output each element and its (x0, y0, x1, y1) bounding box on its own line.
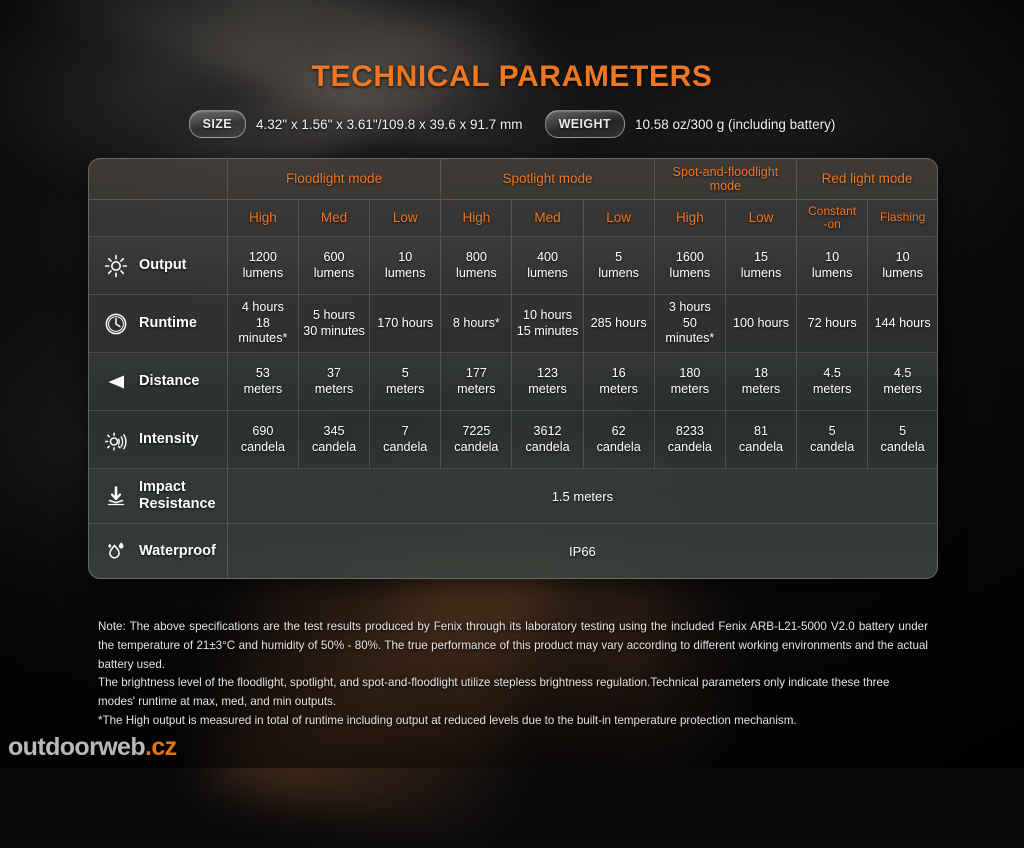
cell-output-1-l1: 600 (324, 250, 345, 264)
mode-header-floodlight: Floodlight mode (227, 159, 440, 200)
cell-distance-9: 4.5meters (868, 353, 937, 411)
cell-output-6-l2: lumens (657, 266, 723, 281)
cell-runtime-3: 8 hours* (441, 295, 512, 353)
cell-intensity-5: 62candela (583, 411, 654, 469)
level-header-spot-med: Med (512, 200, 583, 237)
cell-intensity-5-l2: candela (586, 440, 652, 455)
cell-output-8-l2: lumens (799, 266, 865, 281)
cell-intensity-0: 690candela (227, 411, 298, 469)
level-header-flood-high: High (227, 200, 298, 237)
spec-table-panel: Floodlight mode Spotlight mode Spot-and-… (88, 158, 938, 579)
cell-distance-6-l1: 180 (679, 366, 700, 380)
cell-runtime-7-l1: 100 hours (733, 316, 789, 330)
cell-runtime-4: 10 hours15 minutes (512, 295, 583, 353)
cell-intensity-7-l1: 81 (754, 424, 768, 438)
cell-intensity-4: 3612candela (512, 411, 583, 469)
mode-header-spot-and-floodlight: Spot-and-floodlight mode (654, 159, 796, 200)
cell-intensity-8: 5candela (797, 411, 868, 469)
note-line-2: The brightness level of the floodlight, … (98, 674, 928, 712)
impact-arrow-icon (103, 483, 129, 509)
cell-output-5: 5lumens (583, 237, 654, 295)
cell-distance-9-l2: meters (870, 382, 935, 397)
beam-triangle-icon (103, 369, 129, 395)
cell-distance-2-l1: 5 (402, 366, 409, 380)
level-header-red-constant-on-line2: -on (823, 217, 840, 231)
cell-runtime-3-l1: 8 hours* (453, 316, 500, 330)
table-row-intensity: Intensity 690candela 345candela 7candela… (89, 411, 937, 469)
cell-intensity-2-l1: 7 (402, 424, 409, 438)
weight-group: WEIGHT 10.58 oz/300 g (including battery… (545, 110, 836, 138)
cell-output-0-l2: lumens (230, 266, 296, 281)
row-label-distance: Distance (89, 353, 227, 411)
cell-output-0: 1200lumens (227, 237, 298, 295)
size-value: 4.32" x 1.56" x 3.61"/109.8 x 39.6 x 91.… (256, 117, 523, 132)
cell-intensity-3-l1: 7225 (462, 424, 490, 438)
cell-distance-5-l2: meters (586, 382, 652, 397)
cell-output-7: 15lumens (725, 237, 796, 295)
row-label-output-text: Output (139, 257, 187, 274)
cell-distance-4: 123meters (512, 353, 583, 411)
cell-output-1: 600lumens (298, 237, 369, 295)
cell-distance-5-l1: 16 (612, 366, 626, 380)
level-header-row: High Med Low High Med Low High Low Const… (89, 200, 937, 237)
row-label-runtime-text: Runtime (139, 315, 197, 332)
cell-intensity-9-l2: candela (870, 440, 935, 455)
cell-distance-7-l1: 18 (754, 366, 768, 380)
cell-distance-8-l2: meters (799, 382, 865, 397)
cell-output-9-l1: 10 (896, 250, 910, 264)
level-header-flood-med: Med (298, 200, 369, 237)
note-line-3: *The High output is measured in total of… (98, 712, 928, 731)
cell-intensity-6: 8233candela (654, 411, 725, 469)
cell-intensity-7: 81candela (725, 411, 796, 469)
cell-intensity-1-l2: candela (301, 440, 367, 455)
cell-intensity-9: 5candela (868, 411, 937, 469)
cell-output-1-l2: lumens (301, 266, 367, 281)
cell-distance-5: 16meters (583, 353, 654, 411)
cell-runtime-6-l2: 50 minutes* (657, 316, 723, 347)
cell-distance-9-l1: 4.5 (894, 366, 912, 380)
cell-output-2-l1: 10 (398, 250, 412, 264)
cell-runtime-9-l1: 144 hours (875, 316, 931, 330)
cell-distance-2-l2: meters (372, 382, 438, 397)
cell-output-7-l1: 15 (754, 250, 768, 264)
cell-waterproof-value: IP66 (227, 524, 937, 579)
sun-icon (103, 253, 129, 279)
table-row-output: Output 1200lumens 600lumens 10lumens 800… (89, 237, 937, 295)
row-label-runtime: Runtime (89, 295, 227, 353)
cell-runtime-8-l1: 72 hours (808, 316, 857, 330)
cell-output-9-l2: lumens (870, 266, 935, 281)
row-label-impact-resistance: Impact Resistance (89, 469, 227, 524)
watermark-tld: .cz (145, 733, 177, 761)
cell-distance-1: 37meters (298, 353, 369, 411)
cell-runtime-6: 3 hours50 minutes* (654, 295, 725, 353)
cell-intensity-2-l2: candela (372, 440, 438, 455)
note-line-1: Note: The above specifications are the t… (98, 618, 928, 674)
cell-output-3-l2: lumens (443, 266, 509, 281)
table-row-impact-resistance: Impact Resistance 1.5 meters (89, 469, 937, 524)
cell-output-4-l1: 400 (537, 250, 558, 264)
cell-runtime-0-l2: 18 minutes* (230, 316, 296, 347)
cell-distance-8: 4.5meters (797, 353, 868, 411)
cell-distance-0-l1: 53 (256, 366, 270, 380)
cell-intensity-6-l1: 8233 (676, 424, 704, 438)
cell-intensity-0-l1: 690 (252, 424, 273, 438)
cell-intensity-6-l2: candela (657, 440, 723, 455)
cell-distance-2: 5meters (370, 353, 441, 411)
cell-output-6: 1600lumens (654, 237, 725, 295)
cell-runtime-2: 170 hours (370, 295, 441, 353)
size-group: SIZE 4.32" x 1.56" x 3.61"/109.8 x 39.6 … (189, 110, 523, 138)
cell-impact-resistance-value: 1.5 meters (227, 469, 937, 524)
cell-runtime-1: 5 hours30 minutes (298, 295, 369, 353)
cell-output-8-l1: 10 (825, 250, 839, 264)
level-header-red-constant-on-line1: Constant (808, 204, 856, 218)
page-header: TECHNICAL PARAMETERS SIZE 4.32" x 1.56" … (0, 0, 1024, 138)
mode-group-header-row: Floodlight mode Spotlight mode Spot-and-… (89, 159, 937, 200)
cell-intensity-4-l1: 3612 (534, 424, 562, 438)
table-row-distance: Distance 53meters 37meters 5meters 177me… (89, 353, 937, 411)
cell-distance-3-l1: 177 (466, 366, 487, 380)
cell-runtime-4-l2: 15 minutes (514, 324, 580, 339)
mode-header-spotlight: Spotlight mode (441, 159, 654, 200)
row-label-impact-resistance-text: Impact Resistance (139, 479, 216, 512)
level-header-spacer (89, 200, 227, 237)
cell-output-8: 10lumens (797, 237, 868, 295)
cell-runtime-7: 100 hours (725, 295, 796, 353)
mode-header-red-light: Red light mode (797, 159, 937, 200)
page-title: TECHNICAL PARAMETERS (0, 0, 1024, 94)
level-header-spot-low: Low (583, 200, 654, 237)
clock-icon (103, 311, 129, 337)
cell-distance-6: 180meters (654, 353, 725, 411)
cell-intensity-8-l2: candela (799, 440, 865, 455)
row-label-intensity-text: Intensity (139, 431, 199, 448)
cell-output-3: 800lumens (441, 237, 512, 295)
row-label-output: Output (89, 237, 227, 295)
cell-distance-1-l1: 37 (327, 366, 341, 380)
cell-output-2-l2: lumens (372, 266, 438, 281)
level-header-red-flashing: Flashing (868, 200, 937, 237)
site-watermark: outdoorweb.cz (8, 733, 177, 762)
watermark-name: outdoorweb (8, 733, 145, 761)
weight-value: 10.58 oz/300 g (including battery) (635, 117, 835, 132)
cell-intensity-7-l2: candela (728, 440, 794, 455)
cell-intensity-2: 7candela (370, 411, 441, 469)
cell-intensity-4-l2: candela (514, 440, 580, 455)
cell-intensity-0-l2: candela (230, 440, 296, 455)
cell-output-4-l2: lumens (514, 266, 580, 281)
cell-output-4: 400lumens (512, 237, 583, 295)
cell-distance-4-l2: meters (514, 382, 580, 397)
cell-distance-4-l1: 123 (537, 366, 558, 380)
cell-runtime-5-l1: 285 hours (591, 316, 647, 330)
weight-badge: WEIGHT (545, 110, 625, 138)
cell-output-7-l2: lumens (728, 266, 794, 281)
water-drop-icon (103, 538, 129, 564)
cell-runtime-4-l1: 10 hours (523, 308, 572, 322)
level-header-spot-high: High (441, 200, 512, 237)
cell-output-5-l1: 5 (615, 250, 622, 264)
cell-output-5-l2: lumens (586, 266, 652, 281)
cell-runtime-0: 4 hours18 minutes* (227, 295, 298, 353)
cell-distance-3-l2: meters (443, 382, 509, 397)
cell-runtime-9: 144 hours (868, 295, 937, 353)
cell-runtime-6-l1: 3 hours (669, 300, 711, 314)
level-header-spotflood-high: High (654, 200, 725, 237)
cell-intensity-1-l1: 345 (324, 424, 345, 438)
cell-distance-0-l2: meters (230, 382, 296, 397)
level-header-red-constant-on: Constant -on (797, 200, 868, 237)
cell-distance-6-l2: meters (657, 382, 723, 397)
table-row-runtime: Runtime 4 hours18 minutes* 5 hours30 min… (89, 295, 937, 353)
cell-runtime-5: 285 hours (583, 295, 654, 353)
cell-distance-7: 18meters (725, 353, 796, 411)
row-label-intensity: Intensity (89, 411, 227, 469)
cell-runtime-0-l1: 4 hours (242, 300, 284, 314)
cell-runtime-8: 72 hours (797, 295, 868, 353)
header-corner-cell (89, 159, 227, 200)
cell-intensity-9-l1: 5 (899, 424, 906, 438)
spec-meta-row: SIZE 4.32" x 1.56" x 3.61"/109.8 x 39.6 … (0, 110, 1024, 138)
cell-intensity-5-l1: 62 (612, 424, 626, 438)
cell-output-3-l1: 800 (466, 250, 487, 264)
cell-runtime-2-l1: 170 hours (377, 316, 433, 330)
row-label-waterproof-text: Waterproof (139, 543, 216, 560)
row-label-distance-text: Distance (139, 373, 199, 390)
cell-output-9: 10lumens (868, 237, 937, 295)
level-header-spotflood-low: Low (725, 200, 796, 237)
cell-output-0-l1: 1200 (249, 250, 277, 264)
cell-output-2: 10lumens (370, 237, 441, 295)
size-badge: SIZE (189, 110, 246, 138)
technical-parameters-table: Floodlight mode Spotlight mode Spot-and-… (89, 159, 937, 578)
impact-label-line2: Resistance (139, 496, 216, 512)
impact-label-line1: Impact (139, 479, 186, 495)
cell-output-6-l1: 1600 (676, 250, 704, 264)
table-row-waterproof: Waterproof IP66 (89, 524, 937, 579)
intensity-icon (103, 427, 129, 453)
cell-intensity-1: 345candela (298, 411, 369, 469)
cell-intensity-8-l1: 5 (829, 424, 836, 438)
cell-intensity-3-l2: candela (443, 440, 509, 455)
cell-intensity-3: 7225candela (441, 411, 512, 469)
cell-runtime-1-l1: 5 hours (313, 308, 355, 322)
notes-block: Note: The above specifications are the t… (98, 618, 928, 731)
cell-runtime-1-l2: 30 minutes (301, 324, 367, 339)
row-label-waterproof: Waterproof (89, 524, 227, 579)
cell-distance-7-l2: meters (728, 382, 794, 397)
cell-distance-1-l2: meters (301, 382, 367, 397)
cell-distance-3: 177meters (441, 353, 512, 411)
cell-distance-8-l1: 4.5 (823, 366, 841, 380)
cell-distance-0: 53meters (227, 353, 298, 411)
level-header-flood-low: Low (370, 200, 441, 237)
